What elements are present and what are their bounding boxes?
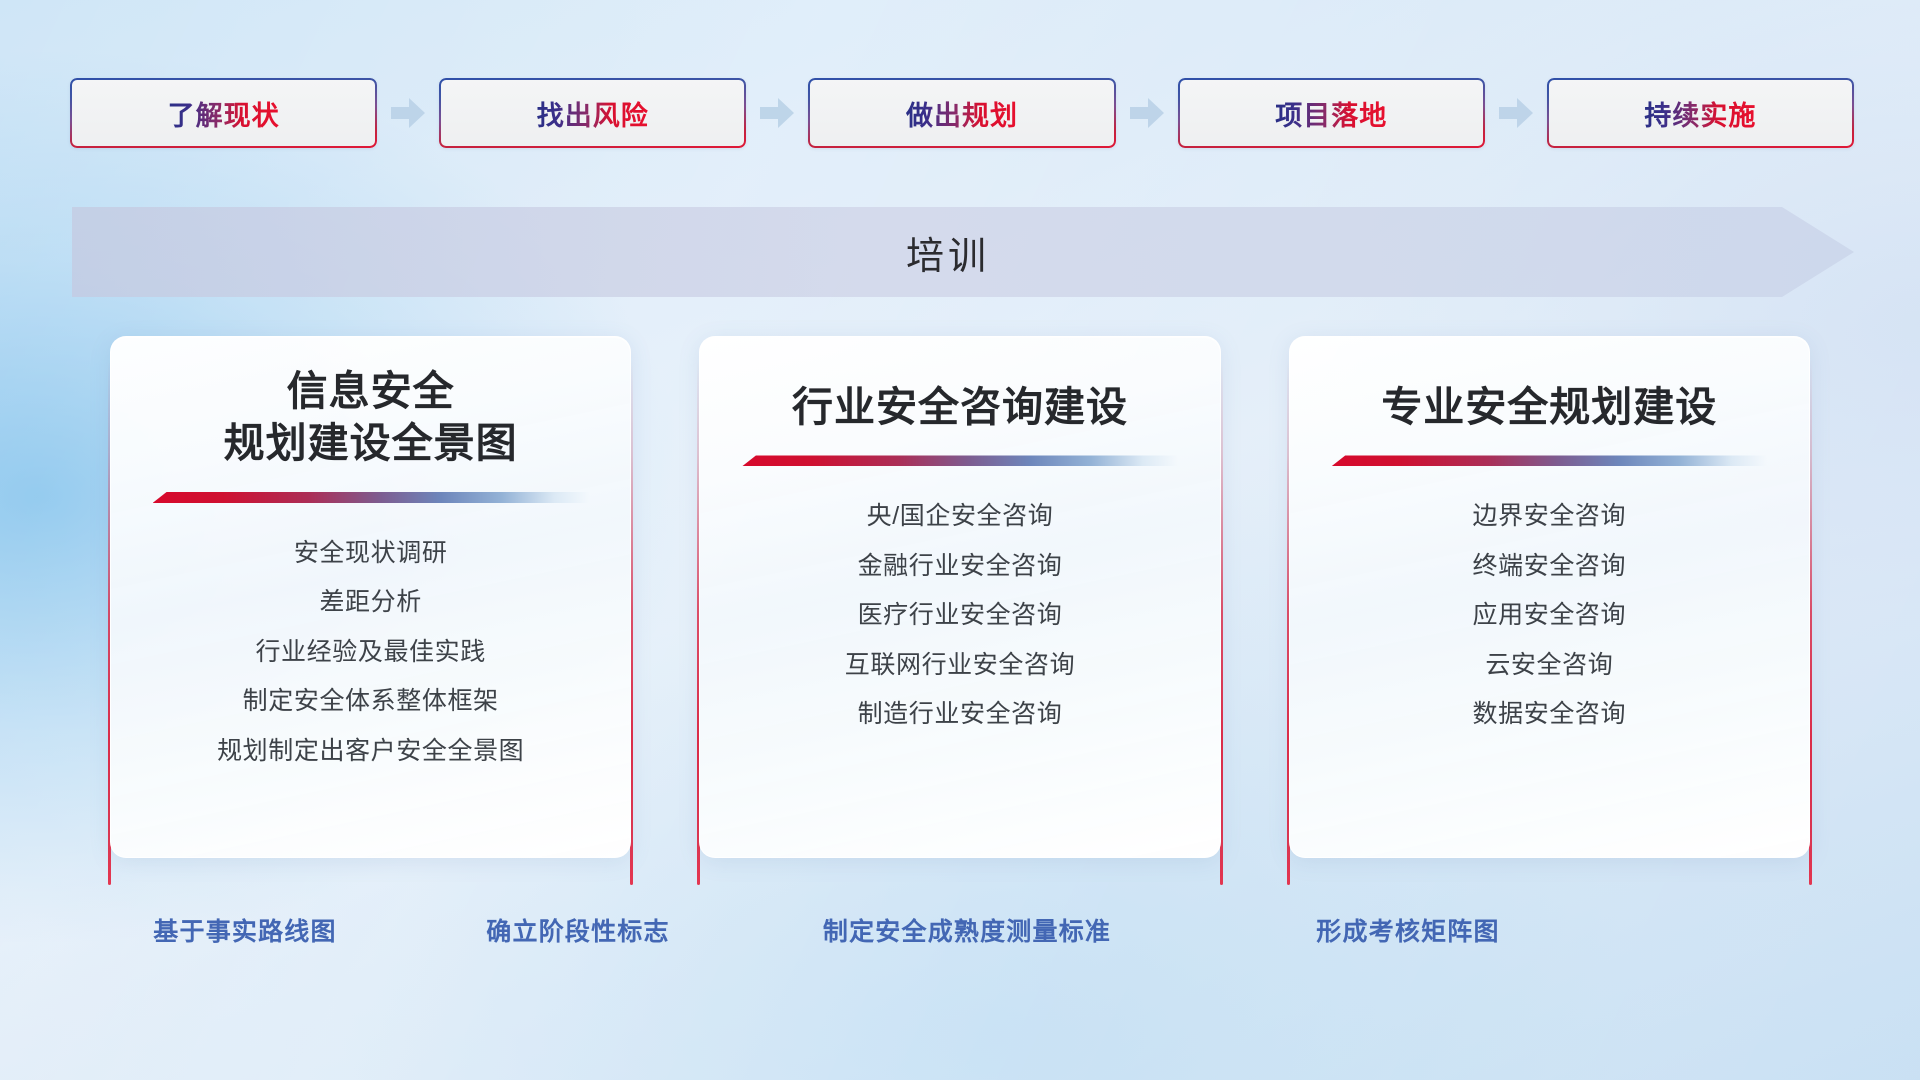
list-item: 金融行业安全咨询: [858, 546, 1063, 588]
list-item: 数据安全咨询: [1473, 694, 1627, 736]
flow-step-label: 持续实施: [1644, 94, 1756, 133]
list-item: 终端安全咨询: [1473, 546, 1627, 588]
flow-step-label: 了解现状: [168, 94, 280, 133]
card-accent-bar: [1331, 455, 1767, 466]
service-card-group: 信息安全 规划建设全景图安全现状调研差距分析行业经验及最佳实践制定安全体系整体框…: [110, 336, 1810, 876]
card-title: 信息安全 规划建设全景图: [202, 365, 540, 470]
flow-step-label: 做出规划: [906, 94, 1018, 133]
list-item: 云安全咨询: [1485, 645, 1613, 687]
flow-step-3[interactable]: 做出规划: [808, 78, 1115, 148]
list-item: 行业经验及最佳实践: [255, 632, 485, 674]
flow-arrow-icon: [1485, 78, 1547, 148]
list-item: 制定安全体系整体框架: [243, 681, 499, 723]
caption-1: 基于事实路线图: [153, 912, 336, 948]
card-item-list: 安全现状调研差距分析行业经验及最佳实践制定安全体系整体框架规划制定出客户安全全景…: [111, 533, 630, 773]
list-item: 互联网行业安全咨询: [845, 645, 1075, 687]
card-body: 信息安全 规划建设全景图安全现状调研差距分析行业经验及最佳实践制定安全体系整体框…: [110, 336, 631, 858]
flow-step-2[interactable]: 找出风险: [439, 78, 746, 148]
list-item: 差距分析: [319, 582, 421, 624]
flow-arrow-icon: [1116, 78, 1178, 148]
card-accent-bar: [742, 455, 1178, 466]
flow-step-1[interactable]: 了解现状: [70, 78, 377, 148]
service-card-3[interactable]: 专业安全规划建设边界安全咨询终端安全咨询应用安全咨询云安全咨询数据安全咨询: [1289, 336, 1810, 871]
flow-step-label: 找出风险: [537, 94, 649, 133]
flow-step-4[interactable]: 项目落地: [1178, 78, 1485, 148]
caption-row: 基于事实路线图确立阶段性标志制定安全成熟度测量标准形成考核矩阵图: [0, 912, 1920, 958]
card-item-list: 央/国企安全咨询金融行业安全咨询医疗行业安全咨询互联网行业安全咨询制造行业安全咨…: [700, 496, 1219, 736]
flow-step-label: 项目落地: [1275, 94, 1387, 133]
caption-2: 确立阶段性标志: [486, 912, 669, 948]
card-body: 专业安全规划建设边界安全咨询终端安全咨询应用安全咨询云安全咨询数据安全咨询: [1289, 336, 1810, 858]
list-item: 应用安全咨询: [1473, 595, 1627, 637]
list-item: 边界安全咨询: [1473, 496, 1627, 538]
list-item: 央/国企安全咨询: [867, 496, 1054, 538]
card-accent-bar: [153, 492, 589, 503]
card-title: 行业安全咨询建设: [770, 381, 1150, 433]
training-banner: 培训: [72, 207, 1854, 297]
caption-3: 制定安全成熟度测量标准: [823, 912, 1111, 948]
caption-4: 形成考核矩阵图: [1316, 912, 1499, 948]
list-item: 安全现状调研: [294, 533, 448, 575]
card-item-list: 边界安全咨询终端安全咨询应用安全咨询云安全咨询数据安全咨询: [1290, 496, 1809, 736]
flow-arrow-icon: [377, 78, 439, 148]
flow-arrow-icon: [746, 78, 808, 148]
banner-label: 培训: [72, 207, 1854, 297]
card-title: 专业安全规划建设: [1359, 381, 1739, 433]
service-card-2[interactable]: 行业安全咨询建设央/国企安全咨询金融行业安全咨询医疗行业安全咨询互联网行业安全咨…: [699, 336, 1220, 871]
list-item: 规划制定出客户安全全景图: [217, 731, 524, 773]
slide-canvas: 了解现状找出风险做出规划项目落地持续实施 培训 信息安全 规划建设全景图安全现状…: [0, 0, 1920, 1080]
list-item: 医疗行业安全咨询: [858, 595, 1063, 637]
process-flow: 了解现状找出风险做出规划项目落地持续实施: [70, 78, 1854, 148]
list-item: 制造行业安全咨询: [858, 694, 1063, 736]
card-body: 行业安全咨询建设央/国企安全咨询金融行业安全咨询医疗行业安全咨询互联网行业安全咨…: [699, 336, 1220, 858]
service-card-1[interactable]: 信息安全 规划建设全景图安全现状调研差距分析行业经验及最佳实践制定安全体系整体框…: [110, 336, 631, 871]
flow-step-5[interactable]: 持续实施: [1547, 78, 1854, 148]
